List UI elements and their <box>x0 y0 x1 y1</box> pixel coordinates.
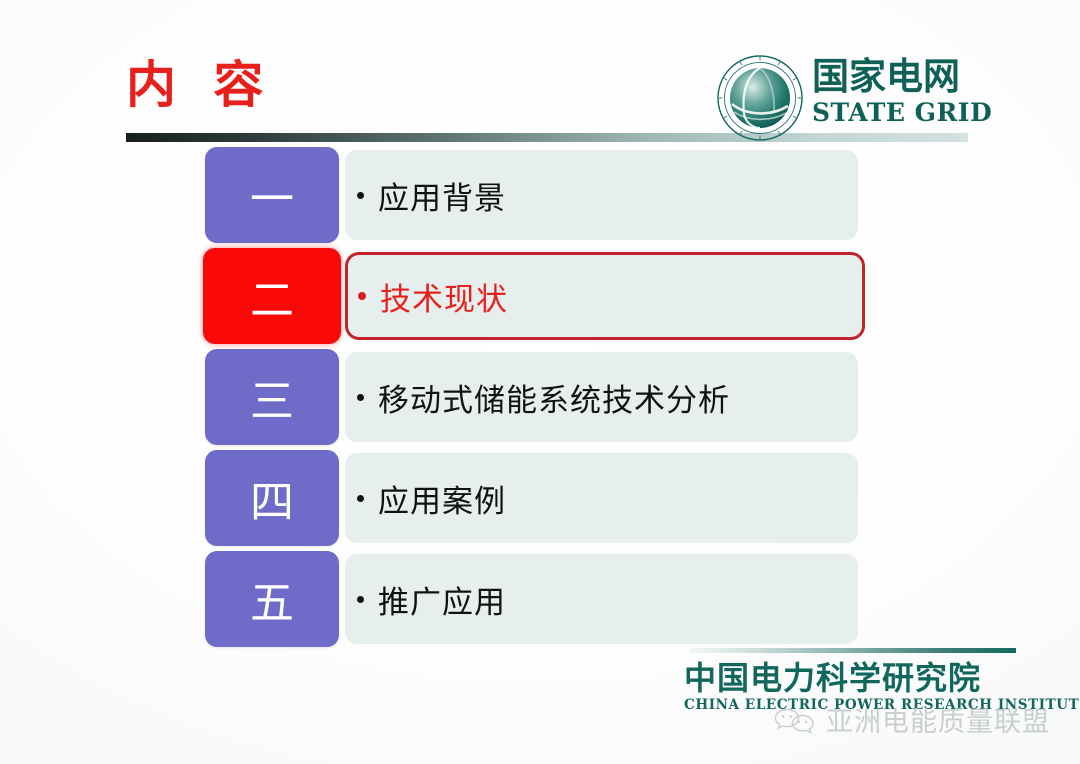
wechat-icon <box>772 705 818 735</box>
slide-canvas: 内 容 ​ <box>0 0 1080 764</box>
list-item[interactable]: 一 应用背景 <box>0 147 1080 243</box>
contents-item-label: 技术现状 <box>380 274 508 319</box>
contents-item-label: 推广应用 <box>378 577 506 622</box>
contents-number-badge[interactable]: 三 <box>205 349 339 445</box>
contents-item-label: 应用案例 <box>378 476 506 521</box>
contents-number-badge[interactable]: 五 <box>205 551 339 647</box>
bullet-icon <box>358 292 366 300</box>
bullet-icon <box>357 596 364 603</box>
contents-item-label: 移动式储能系统技术分析 <box>378 375 730 420</box>
list-item[interactable]: 五 推广应用 <box>0 551 1080 647</box>
contents-list: 一 应用背景 二 技术现状 三 移动式储能系统技术分析 四 应用 <box>0 147 1080 652</box>
list-item[interactable]: 三 移动式储能系统技术分析 <box>0 349 1080 445</box>
contents-label-bar[interactable]: 推广应用 <box>345 554 858 644</box>
list-item[interactable]: 四 应用案例 <box>0 450 1080 546</box>
contents-number-badge[interactable]: 一 <box>205 147 339 243</box>
list-item[interactable]: 二 技术现状 <box>0 248 1080 344</box>
state-grid-logo: ​ 国家电网 STATE GRID <box>716 54 978 140</box>
bullet-icon <box>357 495 364 502</box>
bullet-icon <box>357 192 364 199</box>
wechat-watermark: 亚洲电能质量联盟 <box>772 700 1050 739</box>
contents-number-badge[interactable]: 四 <box>205 450 339 546</box>
state-grid-logo-english: STATE GRID <box>812 98 978 128</box>
contents-label-bar[interactable]: 应用案例 <box>345 453 858 543</box>
institute-name-chinese: 中国电力科学研究院 <box>684 660 1024 696</box>
contents-label-bar[interactable]: 应用背景 <box>345 150 858 240</box>
bullet-icon <box>357 394 364 401</box>
state-grid-emblem-icon: ​ <box>716 54 804 142</box>
page-title: 内 容 <box>126 60 273 110</box>
contents-number-badge[interactable]: 二 <box>203 248 341 344</box>
contents-item-label: 应用背景 <box>378 173 506 218</box>
contents-label-bar[interactable]: 技术现状 <box>345 252 865 340</box>
state-grid-logo-chinese: 国家电网 <box>812 56 978 98</box>
footer-divider <box>690 648 1016 653</box>
contents-label-bar[interactable]: 移动式储能系统技术分析 <box>345 352 858 442</box>
watermark-label: 亚洲电能质量联盟 <box>826 700 1050 739</box>
